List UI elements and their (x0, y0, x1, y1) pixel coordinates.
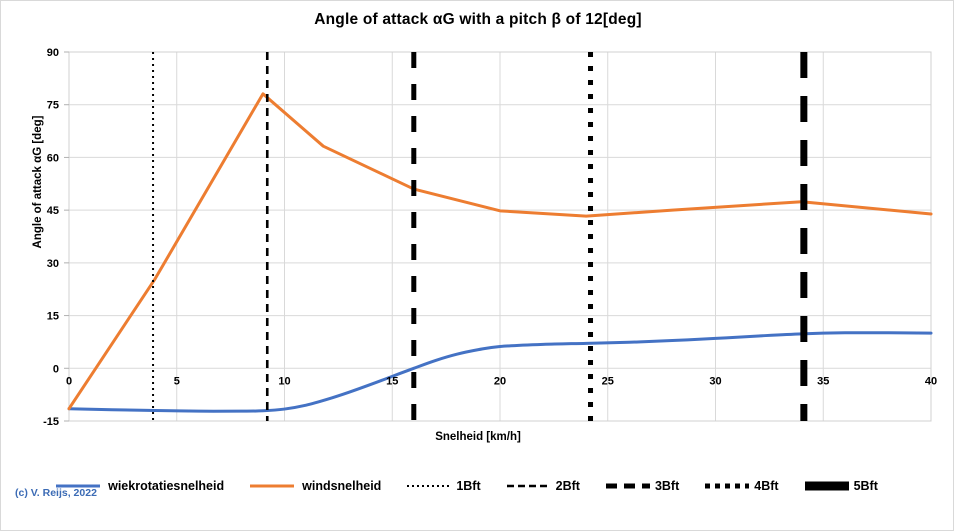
chart-plot-area: 9075604530150-150510152025303540 (1, 1, 954, 471)
vertical-markers (153, 52, 804, 421)
copyright-notice: (c) V. Reijs, 2022 (15, 487, 97, 499)
legend-item-2bft[interactable]: 2Bft (505, 479, 604, 493)
x-axis-label: Snelheid [km/h] (1, 431, 954, 443)
legend-item-label: 3Bft (655, 479, 679, 493)
legend-item-label: 1Bft (456, 479, 480, 493)
legend-swatch (248, 479, 296, 493)
y-tick-label: 90 (47, 47, 59, 59)
legend-swatch (405, 479, 453, 493)
legend-item-label: 5Bft (854, 479, 878, 493)
x-tick-label: 5 (174, 375, 180, 387)
x-tick-label: 10 (278, 375, 290, 387)
chart-legend: wiekrotatiesnelheidwindsnelheid1Bft2Bft3… (1, 479, 954, 493)
y-tick-label: 75 (47, 100, 59, 112)
legend-item-label: wiekrotatiesnelheid (108, 479, 224, 493)
legend-item-4bft[interactable]: 4Bft (703, 479, 802, 493)
x-tick-label: 30 (709, 375, 721, 387)
x-tick-label: 15 (386, 375, 398, 387)
legend-swatch (505, 479, 553, 493)
x-tick-label: 0 (66, 375, 72, 387)
y-tick-label: 0 (53, 363, 59, 375)
legend-item-1bft[interactable]: 1Bft (405, 479, 504, 493)
legend-item-label: windsnelheid (302, 479, 381, 493)
x-tick-label: 20 (494, 375, 506, 387)
legend-item-5bft[interactable]: 5Bft (803, 479, 902, 493)
x-tick-label: 40 (925, 375, 937, 387)
x-tick-label: 25 (602, 375, 614, 387)
legend-item-windsnelheid[interactable]: windsnelheid (248, 479, 405, 493)
chart-frame: Angle of attack αG with a pitch β of 12[… (0, 0, 954, 531)
x-tick-label: 35 (817, 375, 829, 387)
y-tick-label: 45 (47, 205, 59, 217)
legend-swatch (604, 479, 652, 493)
legend-item-label: 4Bft (754, 479, 778, 493)
y-tick-label: 60 (47, 152, 59, 164)
legend-swatch (803, 479, 851, 493)
y-tick-label: -15 (43, 416, 59, 428)
legend-swatch (703, 479, 751, 493)
y-tick-label: 30 (47, 258, 59, 270)
legend-item-3bft[interactable]: 3Bft (604, 479, 703, 493)
y-tick-label: 15 (47, 311, 59, 323)
y-axis-label: Angle of attack αG [deg] (32, 87, 44, 277)
legend-item-label: 2Bft (556, 479, 580, 493)
